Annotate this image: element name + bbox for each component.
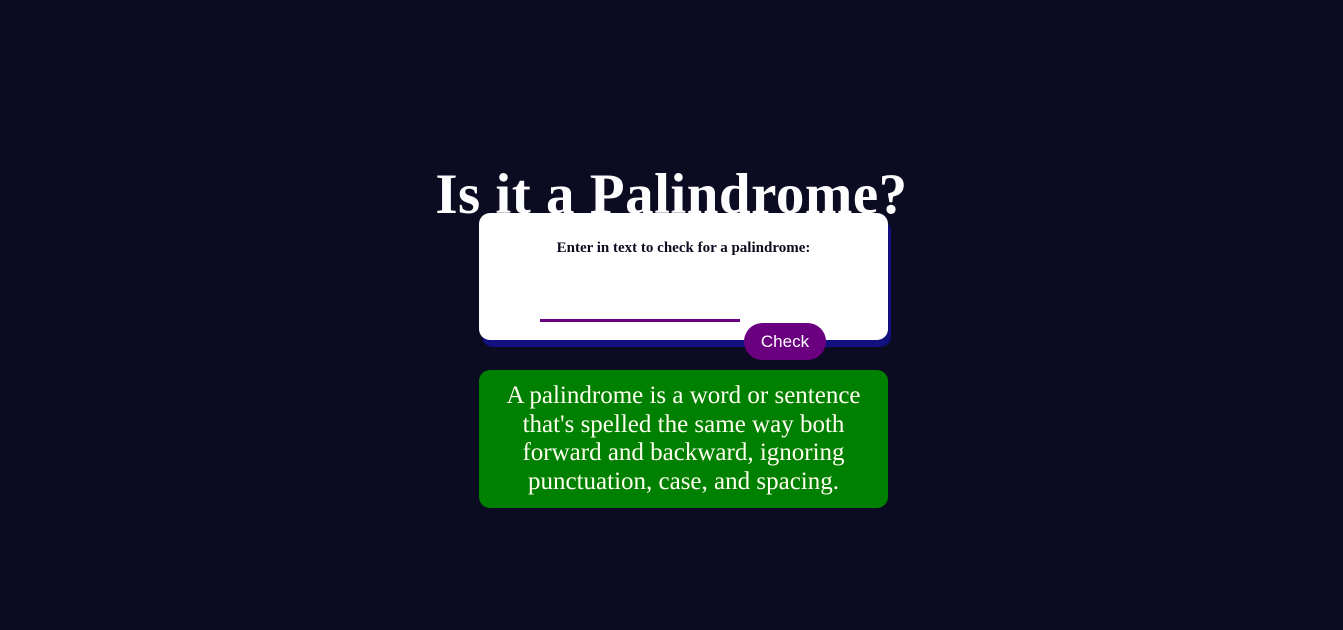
app-root: Is it a Palindrome? Enter in text to che…: [0, 0, 1343, 630]
palindrome-text-input[interactable]: [540, 297, 740, 322]
input-label: Enter in text to check for a palindrome:: [479, 239, 888, 258]
check-button[interactable]: Check: [744, 323, 826, 360]
result-message-box: A palindrome is a word or sentence that'…: [479, 370, 888, 508]
input-row: Check: [479, 268, 888, 323]
palindrome-input-card: Enter in text to check for a palindrome:…: [479, 213, 888, 340]
result-message-text: A palindrome is a word or sentence that'…: [495, 382, 872, 496]
